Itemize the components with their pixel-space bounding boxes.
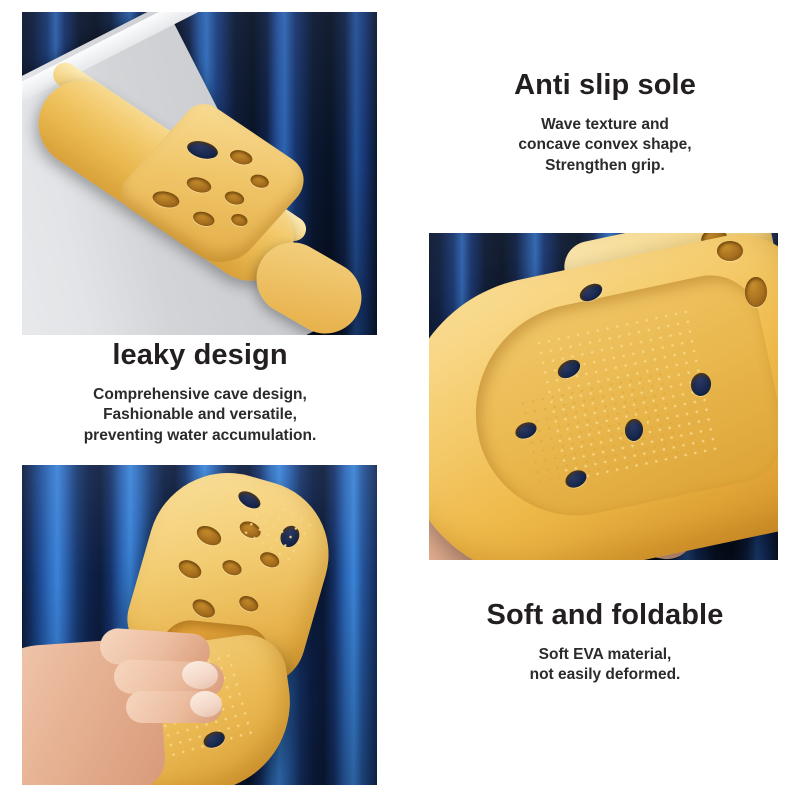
photo-leaky-design (22, 12, 377, 335)
feature-text-soft-and-foldable: Soft and foldable Soft EVA material, not… (430, 600, 780, 686)
body-anti-slip-sole: Wave texture and concave convex shape, S… (430, 115, 780, 176)
photo-soft-and-foldable (22, 465, 377, 785)
body-soft-and-foldable: Soft EVA material, not easily deformed. (430, 645, 780, 686)
heading-anti-slip-sole: Anti slip sole (430, 70, 780, 102)
heading-leaky-design: leaky design (25, 340, 375, 372)
heading-soft-and-foldable: Soft and foldable (430, 600, 780, 632)
body-leaky-design: Comprehensive cave design, Fashionable a… (25, 385, 375, 446)
infographic-canvas: Anti slip sole Wave texture and concave … (0, 0, 800, 800)
feature-text-leaky-design: leaky design Comprehensive cave design, … (25, 340, 375, 446)
drain-hole (745, 277, 767, 307)
drain-hole (717, 241, 743, 261)
feature-text-anti-slip-sole: Anti slip sole Wave texture and concave … (430, 70, 780, 176)
photo-anti-slip-sole (429, 233, 778, 560)
